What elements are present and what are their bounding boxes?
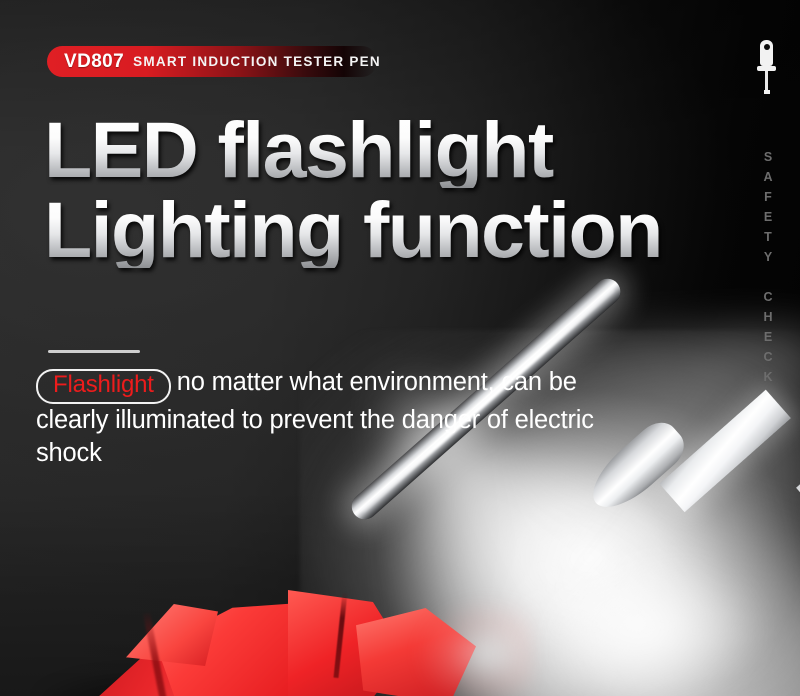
badge-subtitle: SMART INDUCTION TESTER PEN [133, 55, 381, 69]
tester-pen-shaft [765, 71, 768, 90]
page-title: LED flashlight Lighting function [44, 112, 764, 268]
led-hotspot [556, 560, 800, 696]
badge-model: VD807 [64, 52, 124, 71]
promo-banner: VD807 SMART INDUCTION TESTER PEN LED fla… [0, 0, 800, 696]
tester-pen-tip [764, 90, 770, 94]
flashlight-tag: Flashlight [36, 369, 171, 404]
headline-line-1: LED flashlight [44, 112, 764, 188]
description: Flashlightno matter what environment, ca… [36, 366, 636, 470]
headline-line-2: Lighting function [44, 192, 764, 268]
tester-pen-icon [756, 40, 776, 94]
divider [48, 350, 140, 353]
safety-check-label: SAFETY CHECK [761, 150, 775, 390]
product-badge: VD807 SMART INDUCTION TESTER PEN [47, 46, 377, 77]
tester-pen-hole [764, 44, 770, 50]
